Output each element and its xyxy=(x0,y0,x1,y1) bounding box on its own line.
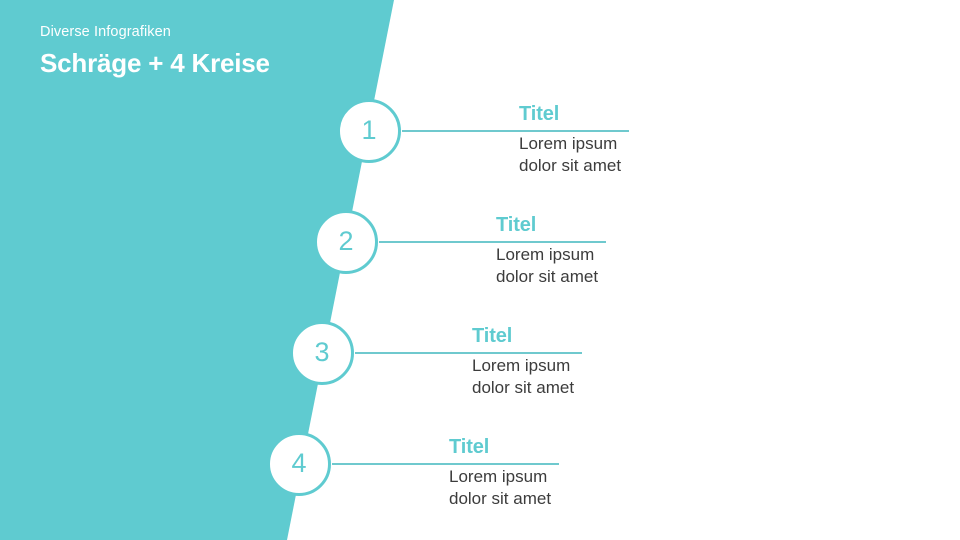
connector-line xyxy=(332,463,559,465)
step-circle-1[interactable]: 1 xyxy=(337,99,401,163)
infographic-slide: Diverse Infografiken Schräge + 4 Kreise … xyxy=(0,0,960,540)
step-title: Titel xyxy=(496,214,536,236)
step-circle-3[interactable]: 3 xyxy=(290,321,354,385)
step-circle-2[interactable]: 2 xyxy=(314,210,378,274)
page-title: Schräge + 4 Kreise xyxy=(40,46,370,80)
angled-teal-panel xyxy=(0,0,960,540)
step-body-line-1: Lorem ipsum xyxy=(496,244,598,266)
step-body-line-2: dolor sit amet xyxy=(496,266,598,288)
connector-line xyxy=(355,352,582,354)
step-title: Titel xyxy=(449,436,489,458)
connector-line xyxy=(402,130,629,132)
step-title: Titel xyxy=(519,103,559,125)
step-body-text: Lorem ipsumdolor sit amet xyxy=(519,133,621,177)
step-body-text: Lorem ipsumdolor sit amet xyxy=(472,355,574,399)
step-circle-4[interactable]: 4 xyxy=(267,432,331,496)
step-number: 3 xyxy=(314,339,329,366)
step-body-text: Lorem ipsumdolor sit amet xyxy=(496,244,598,288)
step-number: 4 xyxy=(291,450,306,477)
connector-line xyxy=(379,241,606,243)
step-body-line-2: dolor sit amet xyxy=(472,377,574,399)
step-body-text: Lorem ipsumdolor sit amet xyxy=(449,466,551,510)
step-body-line-1: Lorem ipsum xyxy=(519,133,621,155)
step-number: 2 xyxy=(338,228,353,255)
step-body-line-1: Lorem ipsum xyxy=(472,355,574,377)
step-number: 1 xyxy=(361,117,376,144)
step-body-line-2: dolor sit amet xyxy=(449,488,551,510)
step-body-line-1: Lorem ipsum xyxy=(449,466,551,488)
step-body-line-2: dolor sit amet xyxy=(519,155,621,177)
slide-header: Diverse Infografiken Schräge + 4 Kreise xyxy=(40,22,370,80)
eyebrow-label: Diverse Infografiken xyxy=(40,22,370,42)
step-title: Titel xyxy=(472,325,512,347)
